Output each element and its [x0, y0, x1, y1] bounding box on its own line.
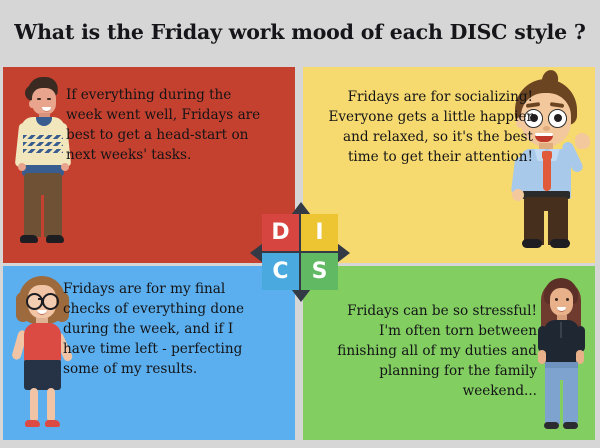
- disc-friday-mood-infographic: What is the Friday work mood of each DIS…: [0, 0, 600, 448]
- disc-center-badge: D I C S: [252, 204, 348, 300]
- quadrant-d-text: If everything during the week went well,…: [66, 85, 266, 165]
- disc-letter-i: I: [301, 214, 338, 251]
- quadrant-s-text: Fridays can be so stressful! I'm often t…: [327, 301, 537, 401]
- disc-letter-grid: D I C S: [262, 214, 338, 290]
- page-title: What is the Friday work mood of each DIS…: [14, 20, 585, 44]
- character-woman-long-hair: [533, 278, 589, 438]
- quadrant-c-text: Fridays are for my final checks of every…: [63, 279, 268, 379]
- title-bar: What is the Friday work mood of each DIS…: [0, 0, 600, 64]
- character-man-cream-sweater: [15, 77, 71, 253]
- quadrant-i-text: Fridays are for socializing! Everyone ge…: [325, 87, 533, 167]
- disc-letter-d: D: [262, 214, 299, 251]
- disc-letter-s: S: [301, 253, 338, 290]
- disc-letter-c: C: [262, 253, 299, 290]
